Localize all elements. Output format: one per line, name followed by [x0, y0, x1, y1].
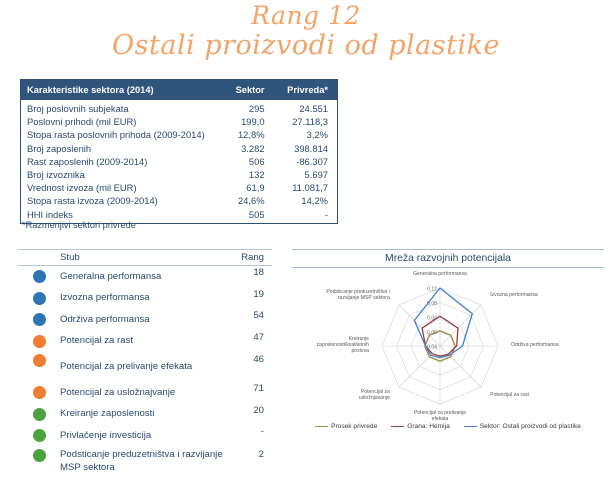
pillar-rank: 46	[226, 352, 272, 365]
table-row: Poslovni prihodi (mil EUR)199,027.118,3	[21, 115, 337, 128]
list-item[interactable]: Održiva performansa54	[18, 309, 272, 331]
list-item[interactable]: Generalna performansa18	[18, 266, 272, 288]
pillar-label: Kreiranje zaposlenosti	[60, 408, 226, 420]
orange-dot	[33, 354, 46, 367]
pillar-rank: 71	[226, 382, 272, 394]
list-item[interactable]: Potencijal za rast47	[18, 331, 272, 353]
sector-characteristics-table: Karakteristike sektora (2014) Sektor Pri…	[20, 79, 338, 224]
pillar-bullet-wrap	[18, 270, 60, 283]
cell-sektor-value: 3.282	[217, 141, 274, 154]
cell-characteristic: Rast zaposlenih (2009-2014)	[21, 155, 217, 168]
column-header-sektor: Sektor	[217, 80, 274, 100]
pillar-rank-list: Stub Rang Generalna performansa18Izvozna…	[18, 249, 272, 477]
radar-axis-label: Kreiranjezaposlenosti/kvalitetnihposlova	[317, 336, 370, 354]
radar-axis-label: Izvozna performansa	[490, 292, 538, 298]
page-title: Rang 12 Ostali proizvodi od plastike	[0, 2, 612, 62]
radar-chart-svg: 0,120,080,040,00-0,04Generalna performan…	[290, 270, 606, 422]
cell-privreda-value: 14,2%	[274, 194, 337, 207]
pillar-label: Generalna performansa	[60, 271, 226, 283]
list-item[interactable]: Potencijal za usložnajvanje71	[18, 382, 272, 404]
legend-label: Prosek privrede	[331, 423, 377, 430]
pillar-label: Potencijal za usložnajvanje	[60, 387, 226, 399]
pillar-bullet-wrap	[18, 429, 60, 442]
table-row: Stopa rasta poslovnih prihoda (2009-2014…	[21, 128, 337, 141]
legend-label: Grana: Hemija	[407, 423, 450, 430]
radar-chart-title: Mreža razvojnih potencijala	[292, 249, 604, 268]
legend-item[interactable]: Prosek privrede	[315, 423, 377, 430]
pillar-bullet-wrap	[18, 352, 60, 367]
list-item[interactable]: Privlačenje investicija-	[18, 425, 272, 447]
radar-axis-label: Potencijal za rast	[490, 392, 529, 398]
cell-sektor-value: 61,9	[217, 181, 274, 194]
radar-tick-label: 0,12	[427, 286, 437, 292]
pillar-bullet-wrap	[18, 335, 60, 348]
radar-tick-label: 0,04	[427, 315, 437, 321]
table-row: Broj poslovnih subjekata29524.551	[21, 100, 337, 115]
cell-sektor-value: 505	[217, 207, 274, 222]
pillar-bullet-wrap	[18, 447, 60, 462]
pillar-bullet-wrap	[18, 292, 60, 305]
table-row: Stopa rasta izvoza (2009-2014)24,6%14,2%	[21, 194, 337, 207]
blue-dot	[33, 270, 46, 283]
radar-chart-legend: Prosek privredeGrana: HemijaSektor: Osta…	[290, 423, 606, 430]
orange-dot	[33, 335, 46, 348]
cell-privreda-value: -	[274, 207, 337, 222]
legend-item[interactable]: Sektor: Ostali proizvodi od plastike	[464, 423, 581, 430]
radar-axis-label: Podsticanje preduzetništva irazvijanje M…	[326, 289, 390, 301]
radar-axis-label: Potencijal zausložnjavanje	[359, 389, 390, 401]
legend-item[interactable]: Grana: Hemija	[391, 423, 450, 430]
cell-privreda-value: 24.551	[274, 100, 337, 115]
pillar-label: Privlačenje investicija	[60, 430, 226, 442]
pillar-bullet-wrap	[18, 408, 60, 421]
pillar-rank: -	[226, 425, 272, 437]
pillar-rank: 19	[226, 288, 272, 300]
cell-sektor-value: 199,0	[217, 115, 274, 128]
radar-tick-label: 0,08	[427, 301, 437, 307]
pillar-rank: 47	[226, 331, 272, 343]
pillar-bullet-wrap	[18, 313, 60, 326]
list-item[interactable]: Kreiranje zaposlenosti20	[18, 404, 272, 426]
blue-dot	[33, 292, 46, 305]
pillar-list-header: Stub Rang	[18, 249, 272, 266]
radar-chart-panel: Mreža razvojnih potencijala 0,120,080,04…	[290, 249, 606, 455]
cell-sektor-value: 295	[217, 100, 274, 115]
column-header-characteristic: Karakteristike sektora (2014)	[21, 80, 217, 100]
radar-chart-canvas: 0,120,080,040,00-0,04Generalna performan…	[290, 270, 606, 422]
cell-characteristic: Broj zaposlenih	[21, 141, 217, 154]
pillar-rank: 2	[226, 447, 272, 460]
pillar-rank: 54	[226, 309, 272, 321]
legend-swatch-icon	[464, 426, 477, 428]
list-item[interactable]: Izvozna performansa19	[18, 288, 272, 310]
pillar-rank: 20	[226, 404, 272, 416]
radar-axis-label: Potencijal za prelivanjeefekata	[414, 410, 466, 422]
cell-characteristic: Stopa rasta izvoza (2009-2014)	[21, 194, 217, 207]
pillar-header-rang: Rang	[226, 252, 272, 263]
column-header-privreda: Privreda*	[274, 80, 337, 100]
cell-sektor-value: 24,6%	[217, 194, 274, 207]
list-item[interactable]: Potencijal za prelivanje efekata46	[18, 352, 272, 382]
pillar-label: Izvozna performansa	[60, 292, 226, 304]
pillar-header-stub: Stub	[60, 252, 226, 263]
cell-characteristic: Stopa rasta poslovnih prihoda (2009-2014…	[21, 128, 217, 141]
table-footnote: *Razmenjivi sektori privrede	[22, 220, 136, 230]
cell-characteristic: Broj poslovnih subjekata	[21, 100, 217, 115]
radar-axis-label: Održiva performansa	[511, 342, 559, 348]
table-row: Vrednost izvoza (mil EUR)61,911.081,7	[21, 181, 337, 194]
cell-sektor-value: 506	[217, 155, 274, 168]
cell-privreda-value: 398.814	[274, 141, 337, 154]
cell-sektor-value: 12,8%	[217, 128, 274, 141]
cell-sektor-value: 132	[217, 168, 274, 181]
pillar-label: Potencijal za rast	[60, 335, 226, 347]
green-dot	[33, 408, 46, 421]
pillar-label: Održiva performansa	[60, 314, 226, 326]
cell-privreda-value: 27.118,3	[274, 115, 337, 128]
cell-privreda-value: 3,2%	[274, 128, 337, 141]
orange-dot	[33, 386, 46, 399]
rank-title: Rang 12	[0, 2, 612, 30]
cell-characteristic: Poslovni prihodi (mil EUR)	[21, 115, 217, 128]
radar-axis-label: Generalna performansa	[413, 271, 467, 277]
table-header-row: Karakteristike sektora (2014) Sektor Pri…	[21, 80, 337, 100]
table-row: Rast zaposlenih (2009-2014)506-86.307	[21, 155, 337, 168]
sector-title: Ostali proizvodi od plastike	[0, 30, 612, 62]
green-dot	[33, 429, 46, 442]
legend-swatch-icon	[391, 426, 404, 428]
radar-tick-label: -0,04	[425, 344, 437, 350]
pillar-bullet-wrap	[18, 386, 60, 399]
cell-characteristic: Vrednost izvoza (mil EUR)	[21, 181, 217, 194]
legend-swatch-icon	[315, 426, 328, 428]
pillar-rank: 18	[226, 266, 272, 278]
legend-label: Sektor: Ostali proizvodi od plastike	[480, 423, 581, 430]
table-row: Broj izvoznika1325.697	[21, 168, 337, 181]
green-dot	[33, 449, 46, 462]
cell-privreda-value: 5.697	[274, 168, 337, 181]
cell-privreda-value: 11.081,7	[274, 181, 337, 194]
blue-dot	[33, 313, 46, 326]
pillar-label: Potencijal za prelivanje efekata	[60, 361, 226, 373]
radar-tick-label: 0,00	[427, 330, 437, 336]
table-row: Broj zaposlenih3.282398.814	[21, 141, 337, 154]
cell-privreda-value: -86.307	[274, 155, 337, 168]
cell-characteristic: Broj izvoznika	[21, 168, 217, 181]
